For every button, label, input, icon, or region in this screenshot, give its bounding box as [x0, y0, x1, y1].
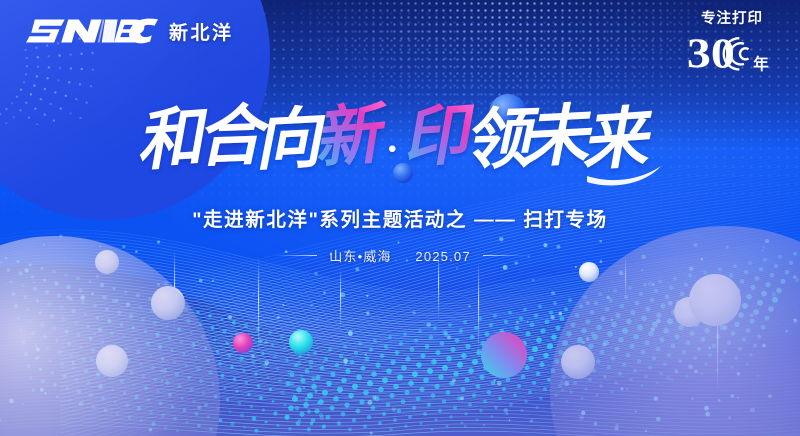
- mesh-dot: [329, 405, 334, 410]
- mesh-dot: [568, 298, 572, 302]
- particle: [365, 354, 367, 356]
- mesh-dot: [545, 319, 550, 324]
- hero-title: 和合向新·印领未来: [0, 92, 800, 188]
- mesh-dot: [416, 396, 421, 401]
- mesh-dot: [427, 368, 433, 374]
- mesh-dot: [360, 366, 365, 371]
- particle: [503, 265, 508, 270]
- mesh-dot: [509, 403, 512, 406]
- particle: [366, 295, 368, 297]
- mesh-dot: [397, 374, 403, 380]
- particle: [527, 321, 529, 323]
- particle: [343, 358, 348, 363]
- mesh-dot: [472, 393, 476, 397]
- mesh-dot: [211, 326, 215, 330]
- mesh-dot: [266, 376, 269, 379]
- mesh-dot: [536, 337, 542, 343]
- mesh-dot: [214, 338, 217, 341]
- mesh-dot: [442, 399, 446, 403]
- particle: [464, 425, 467, 428]
- mesh-dot: [339, 354, 343, 358]
- mesh-dot: [251, 360, 256, 365]
- mesh-dot: [314, 389, 317, 392]
- mesh-dot: [216, 350, 219, 353]
- mesh-dot: [412, 406, 416, 410]
- brand-name-cn: 新北洋: [169, 18, 234, 45]
- particle: [314, 272, 318, 276]
- title-char-5: ·: [387, 126, 397, 171]
- particle: [253, 293, 255, 295]
- mesh-dot: [295, 406, 299, 410]
- particle: [551, 291, 555, 295]
- mesh-dot: [416, 362, 422, 368]
- mesh-dot: [226, 342, 229, 345]
- particle: [504, 408, 509, 413]
- mesh-dot: [262, 408, 265, 411]
- anniversary-year-unit: 年: [753, 54, 769, 73]
- mesh-dot: [521, 375, 526, 380]
- mesh-dot: [337, 421, 341, 425]
- mesh-dot: [297, 362, 301, 366]
- mesh-dot: [393, 418, 397, 422]
- mesh-dot: [429, 335, 433, 339]
- mesh-dot: [273, 355, 277, 359]
- particle: [532, 279, 535, 282]
- mesh-dot: [397, 409, 401, 413]
- particle: [468, 305, 471, 308]
- mesh-dot: [219, 419, 223, 423]
- mesh-dot: [367, 380, 373, 386]
- mesh-dot: [494, 406, 497, 409]
- mesh-dot: [434, 418, 437, 421]
- mesh-dot: [399, 341, 403, 345]
- mesh-dot: [257, 384, 261, 388]
- mesh-dot: [252, 416, 257, 421]
- mesh-dot: [344, 402, 349, 407]
- anniversary-tagline: 专注打印: [680, 12, 784, 28]
- mesh-dot: [315, 375, 320, 380]
- mesh-dot: [307, 393, 313, 399]
- mesh-dot: [326, 415, 331, 420]
- particle: [355, 267, 359, 271]
- mesh-dot: [384, 344, 388, 348]
- mesh-dot: [232, 321, 236, 325]
- particle: [494, 379, 496, 381]
- mesh-dot: [395, 350, 400, 355]
- mesh-dot: [309, 360, 313, 364]
- mesh-dot: [423, 412, 427, 416]
- particle: [370, 431, 373, 434]
- particle: [340, 293, 345, 298]
- mesh-dot: [273, 411, 277, 415]
- mesh-dot: [228, 353, 232, 357]
- mesh-dot: [410, 347, 415, 352]
- mesh-dot: [461, 422, 464, 425]
- mesh-dot: [352, 418, 356, 422]
- mesh-dot: [438, 374, 444, 380]
- mesh-dot: [313, 351, 317, 355]
- particle: [499, 237, 503, 241]
- mesh-dot: [498, 396, 502, 400]
- particle: [456, 267, 458, 269]
- hero-title-calligraphy: 和合向新·印领未来: [135, 92, 665, 188]
- mesh-dot: [539, 362, 544, 367]
- mesh-dot: [299, 412, 304, 417]
- particle: [330, 298, 332, 300]
- particle: [323, 361, 325, 363]
- mesh-dot: [521, 409, 524, 412]
- mesh-dot: [284, 403, 287, 406]
- mesh-dot: [431, 359, 437, 365]
- mesh-dot: [438, 409, 442, 413]
- mesh-dot: [459, 329, 463, 333]
- mesh-dot: [380, 353, 385, 358]
- mesh-dot: [491, 381, 496, 386]
- mesh-dot: [433, 326, 437, 330]
- mesh-dot: [269, 388, 272, 391]
- mesh-dot: [491, 415, 494, 418]
- light-beam-2: [258, 258, 259, 352]
- mesh-dot: [468, 403, 472, 407]
- mesh-dot: [431, 393, 436, 398]
- mesh-dot: [280, 391, 285, 396]
- mesh-dot: [354, 351, 358, 355]
- mesh-dot: [378, 387, 384, 393]
- mesh-dot: [493, 314, 497, 318]
- mesh-dot: [470, 335, 475, 340]
- dateline-rule-left: [275, 255, 317, 256]
- mesh-dot: [230, 422, 235, 427]
- event-location: 山东•威海: [329, 249, 392, 264]
- mesh-dot: [352, 384, 358, 390]
- mesh-dot: [464, 412, 467, 415]
- mesh-dot: [254, 372, 257, 375]
- mesh-dot: [389, 428, 392, 431]
- mesh-dot: [408, 415, 412, 419]
- mesh-dot: [285, 359, 288, 362]
- mesh-dot: [245, 381, 248, 384]
- particle: [530, 419, 533, 422]
- mesh-dot: [386, 402, 391, 407]
- particle: [509, 420, 511, 422]
- mesh-dot: [434, 384, 439, 389]
- mesh-dot: [560, 316, 565, 321]
- mesh-dot: [405, 356, 410, 361]
- mesh-dot: [412, 371, 418, 377]
- mesh-dot: [382, 412, 386, 416]
- mesh-dot: [553, 301, 557, 305]
- mesh-dot: [341, 412, 346, 417]
- mesh-dot: [228, 410, 231, 413]
- snbc-logo-icon: [26, 16, 158, 46]
- mesh-dot: [464, 378, 469, 383]
- mesh-dot: [525, 331, 530, 336]
- mesh-dot: [296, 387, 302, 393]
- mesh-dot: [367, 415, 371, 419]
- mesh-dot: [307, 354, 310, 357]
- mesh-dot: [363, 424, 367, 428]
- mesh-dot: [476, 418, 479, 421]
- particle: [599, 240, 602, 243]
- mesh-dot: [277, 424, 280, 427]
- mesh-dot: [564, 307, 568, 311]
- mesh-dot: [223, 386, 226, 389]
- particle: [497, 381, 502, 386]
- mesh-dot: [401, 399, 406, 404]
- mesh-dot: [287, 370, 291, 374]
- particle: [228, 315, 232, 319]
- particle: [265, 361, 270, 366]
- mesh-dot: [401, 365, 407, 371]
- mesh-dot: [549, 310, 553, 314]
- mesh-dot: [487, 390, 491, 394]
- mesh-dot: [524, 400, 527, 403]
- mesh-dot: [513, 393, 517, 397]
- particle: [323, 291, 326, 294]
- mesh-dot: [300, 374, 303, 377]
- mesh-dot: [502, 387, 506, 391]
- mesh-dot: [239, 356, 244, 361]
- dateline-rule-right: [483, 255, 525, 256]
- mesh-dot: [322, 390, 328, 396]
- mesh-dot: [538, 304, 542, 308]
- particle: [212, 279, 214, 281]
- mesh-dot: [356, 375, 362, 381]
- mesh-dot: [515, 326, 520, 331]
- mesh-dot: [247, 393, 250, 396]
- poster-banner: placeholder: [0, 0, 800, 436]
- mesh-dot: [446, 425, 449, 428]
- mesh-dot: [348, 427, 352, 431]
- mesh-dot: [290, 382, 295, 387]
- mesh-dot: [309, 365, 312, 368]
- mesh-dot: [390, 359, 395, 364]
- particle: [426, 322, 431, 327]
- mesh-dot: [276, 367, 279, 370]
- mesh-dot: [540, 328, 545, 333]
- event-dateline: 山东•威海 2025.07: [0, 246, 800, 265]
- mesh-dot: [420, 353, 425, 358]
- mesh-dot: [418, 329, 422, 333]
- mesh-dot: [359, 399, 364, 404]
- mesh-dot: [519, 317, 523, 321]
- mesh-dot: [468, 368, 474, 374]
- mesh-dot: [431, 428, 434, 431]
- mesh-dot: [250, 405, 254, 409]
- particle: [366, 311, 369, 314]
- anniversary-number: 30: [687, 31, 735, 75]
- mesh-dot: [508, 311, 512, 315]
- mesh-dot: [310, 422, 313, 425]
- mesh-dot: [453, 371, 459, 377]
- mesh-dot: [305, 369, 310, 374]
- mesh-dot: [243, 369, 246, 372]
- mesh-dot: [369, 348, 373, 352]
- mesh-dot: [307, 427, 311, 431]
- mesh-dot: [345, 369, 350, 374]
- particle: [558, 312, 562, 316]
- mesh-dot: [532, 381, 536, 385]
- particle: [264, 340, 268, 344]
- mesh-dot: [448, 323, 452, 327]
- mesh-dot: [283, 347, 286, 350]
- mesh-dot: [298, 354, 302, 358]
- mesh-dot: [365, 357, 370, 362]
- mesh-dot: [363, 390, 369, 396]
- mesh-dot: [311, 384, 317, 390]
- particle: [320, 415, 324, 419]
- mesh-dot: [440, 341, 445, 346]
- mesh-dot: [350, 360, 355, 365]
- particle: [251, 354, 255, 358]
- mesh-dot: [435, 350, 440, 355]
- mesh-dot: [446, 390, 451, 395]
- particle: [372, 396, 376, 400]
- particle: [575, 266, 577, 268]
- particle: [392, 407, 396, 411]
- mesh-dot: [547, 343, 553, 349]
- mesh-dot: [419, 421, 422, 424]
- particle: [277, 316, 280, 319]
- mesh-dot: [371, 406, 376, 411]
- mesh-dot: [388, 335, 392, 339]
- mesh-dot: [449, 415, 452, 418]
- mesh-dot: [453, 406, 457, 410]
- anniversary-badge: 专注打印 30 年: [680, 12, 784, 75]
- mesh-dot: [304, 397, 308, 401]
- mesh-dot: [303, 402, 309, 408]
- mesh-dot: [534, 313, 538, 317]
- particle: [157, 240, 160, 243]
- mesh-dot: [285, 381, 290, 386]
- mesh-dot: [280, 334, 284, 338]
- mesh-dot: [238, 401, 241, 404]
- mesh-dot: [322, 425, 326, 429]
- mesh-dot: [408, 381, 414, 387]
- mesh-dot: [235, 390, 238, 393]
- hero-subtitle: "走进新北洋"系列主题活动之 —— 扫打专场: [0, 203, 800, 232]
- event-date: 2025.07: [415, 249, 470, 264]
- mesh-dot: [341, 378, 347, 384]
- mesh-dot: [264, 420, 267, 423]
- particle: [199, 279, 203, 283]
- mesh-dot: [457, 362, 463, 368]
- dateline-text: 山东•威海 2025.07: [329, 246, 471, 265]
- mesh-dot: [423, 377, 429, 383]
- mesh-dot: [472, 359, 478, 365]
- mesh-dot: [543, 387, 547, 391]
- mesh-dot: [278, 379, 282, 383]
- mesh-dot: [528, 356, 534, 362]
- mesh-dot: [271, 343, 274, 346]
- mesh-dot: [243, 426, 246, 429]
- mesh-dot: [330, 372, 335, 377]
- mesh-dot: [528, 390, 532, 394]
- mesh-dot: [240, 413, 244, 417]
- particle: [550, 315, 554, 319]
- mesh-dot: [324, 357, 328, 361]
- brand-logo[interactable]: 新北洋: [26, 16, 234, 46]
- mesh-dot: [523, 308, 527, 312]
- mesh-dot: [226, 398, 229, 401]
- mesh-dot: [382, 377, 388, 383]
- mesh-dot: [218, 362, 222, 366]
- title-char-4: 新: [311, 97, 393, 176]
- mesh-dot: [539, 397, 542, 400]
- mesh-dot: [403, 332, 407, 336]
- mesh-dot: [358, 342, 362, 346]
- mesh-dot: [404, 390, 409, 395]
- mesh-dot: [337, 387, 343, 393]
- particle: [398, 242, 400, 244]
- mesh-dot: [288, 427, 292, 431]
- mesh-dot: [320, 366, 325, 371]
- mesh-dot: [196, 311, 199, 314]
- mesh-dot: [517, 384, 521, 388]
- mesh-dot: [479, 374, 484, 379]
- mesh-dot: [268, 331, 272, 335]
- mesh-dot: [419, 387, 424, 392]
- mesh-dot: [427, 403, 431, 407]
- mesh-dot: [343, 345, 347, 349]
- mesh-dot: [536, 371, 541, 376]
- mesh-dot: [293, 394, 297, 398]
- mesh-dot: [307, 410, 311, 414]
- mesh-dot: [483, 400, 487, 404]
- mesh-dot: [543, 353, 549, 359]
- light-beam-3: [340, 268, 341, 330]
- mesh-dot: [328, 348, 332, 352]
- mesh-dot: [348, 393, 354, 399]
- mesh-dot: [404, 424, 407, 427]
- particle: [412, 311, 415, 314]
- mesh-dot: [536, 406, 539, 409]
- particle: [452, 378, 456, 382]
- light-beam-5: [478, 262, 479, 352]
- mesh-dot: [530, 322, 535, 327]
- mesh-dot: [261, 352, 264, 355]
- mesh-dot: [298, 419, 301, 422]
- title-char-9: 来: [579, 101, 657, 179]
- mesh-dot: [489, 323, 493, 327]
- mesh-dot: [465, 344, 470, 349]
- mesh-dot: [378, 421, 382, 425]
- mesh-dot: [393, 384, 399, 390]
- particle: [317, 318, 319, 320]
- mesh-dot: [254, 429, 258, 433]
- mesh-dot: [524, 365, 529, 370]
- particle: [460, 397, 464, 401]
- mesh-dot: [272, 400, 275, 403]
- mesh-dot: [504, 320, 508, 324]
- mesh-dot: [208, 314, 211, 317]
- mesh-dot: [373, 339, 377, 343]
- particle: [282, 304, 284, 306]
- mesh-dot: [463, 320, 467, 324]
- anniversary-number-graphic: 30 年: [680, 29, 784, 75]
- mesh-dot: [300, 378, 305, 383]
- mesh-dot: [285, 415, 289, 419]
- mesh-dot: [551, 334, 557, 340]
- mesh-dot: [442, 365, 448, 371]
- particle: [348, 331, 353, 336]
- mesh-dot: [356, 409, 361, 414]
- mesh-dot: [302, 386, 305, 389]
- mesh-dot: [220, 374, 224, 378]
- mesh-dot: [446, 356, 452, 362]
- mesh-dot: [317, 401, 320, 404]
- mesh-dot: [450, 347, 455, 352]
